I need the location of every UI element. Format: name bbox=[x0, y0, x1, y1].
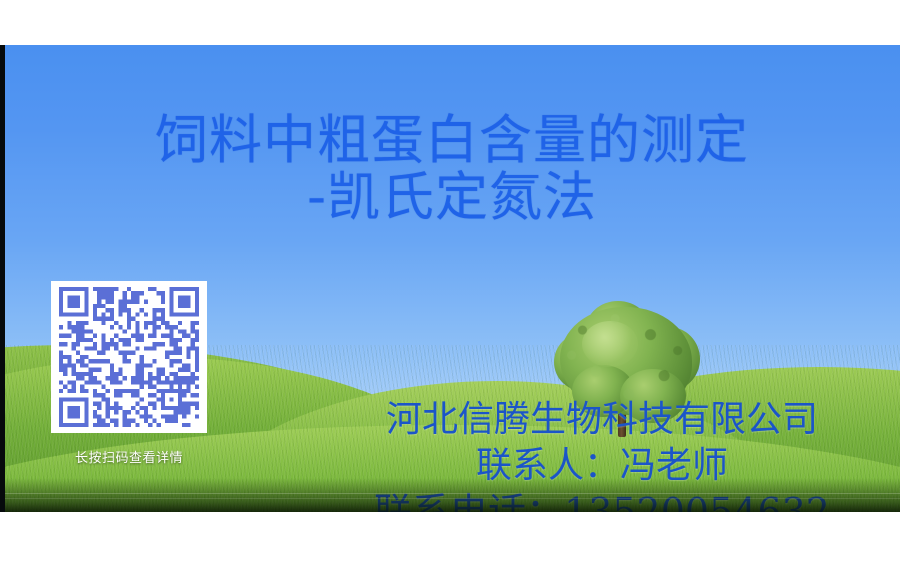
player-left-bezel bbox=[0, 45, 5, 512]
qr-code-block[interactable]: 长按扫码查看详情 bbox=[51, 281, 207, 466]
video-player[interactable]: 饲料中粗蛋白含量的测定 -凯氏定氮法 长按扫码查看详情 河北信腾生物科技有限公司… bbox=[0, 45, 900, 512]
slide-artwork: 饲料中粗蛋白含量的测定 -凯氏定氮法 长按扫码查看详情 河北信腾生物科技有限公司… bbox=[4, 45, 900, 512]
slide-headline: 饲料中粗蛋白含量的测定 -凯氏定氮法 bbox=[4, 113, 900, 225]
slide-subtitle: -凯氏定氮法 bbox=[4, 170, 900, 225]
qr-code-caption: 长按扫码查看详情 bbox=[51, 447, 207, 466]
slide-title: 饲料中粗蛋白含量的测定 bbox=[4, 113, 900, 168]
overlay-scanline bbox=[4, 498, 900, 499]
company-name: 河北信腾生物科技有限公司 bbox=[304, 400, 900, 440]
screenshot-root: 饲料中粗蛋白含量的测定 -凯氏定氮法 长按扫码查看详情 河北信腾生物科技有限公司… bbox=[0, 0, 900, 561]
qr-code-card[interactable] bbox=[51, 281, 207, 433]
bottom-vignette bbox=[4, 478, 900, 512]
overlay-scanline bbox=[4, 493, 900, 494]
qr-code-image[interactable] bbox=[59, 287, 199, 427]
